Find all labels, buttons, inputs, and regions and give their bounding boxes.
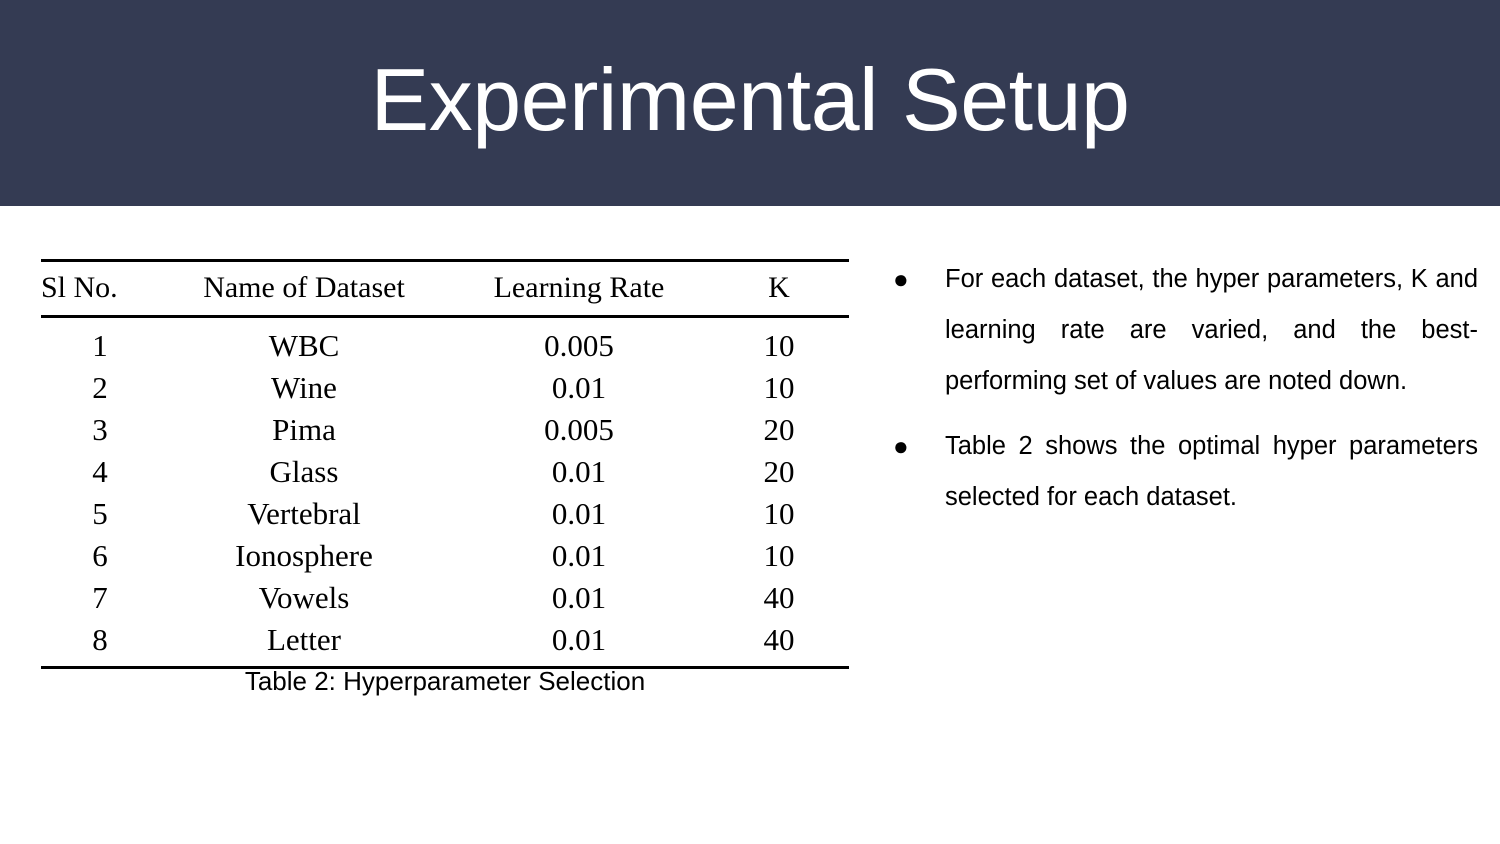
bullet-dot-icon: ●	[893, 254, 909, 305]
cell-k: 10	[709, 493, 849, 535]
slide-body: Sl No. Name of Dataset Learning Rate K 1…	[0, 206, 1500, 844]
bullet-text: For each dataset, the hyper parameters, …	[945, 254, 1478, 407]
table-row: 1 WBC 0.005 10	[41, 317, 849, 367]
table-header: Sl No. Name of Dataset Learning Rate K	[41, 261, 849, 317]
cell-learning-rate: 0.01	[449, 367, 709, 409]
table-row: 3 Pima 0.005 20	[41, 409, 849, 451]
cell-sl-no: 7	[41, 577, 159, 619]
cell-dataset-name: WBC	[159, 317, 449, 367]
hyperparameter-table: Sl No. Name of Dataset Learning Rate K 1…	[41, 259, 849, 669]
table-row: 2 Wine 0.01 10	[41, 367, 849, 409]
cell-learning-rate: 0.005	[449, 409, 709, 451]
table-body: 1 WBC 0.005 10 2 Wine 0.01 10 3 Pima 0.0…	[41, 317, 849, 668]
cell-k: 40	[709, 619, 849, 668]
cell-sl-no: 2	[41, 367, 159, 409]
cell-dataset-name: Letter	[159, 619, 449, 668]
table-row: 5 Vertebral 0.01 10	[41, 493, 849, 535]
cell-sl-no: 4	[41, 451, 159, 493]
cell-dataset-name: Vertebral	[159, 493, 449, 535]
cell-dataset-name: Ionosphere	[159, 535, 449, 577]
cell-k: 10	[709, 367, 849, 409]
table-caption: Table 2: Hyperparameter Selection	[41, 666, 849, 697]
cell-k: 20	[709, 409, 849, 451]
table-row: 6 Ionosphere 0.01 10	[41, 535, 849, 577]
cell-sl-no: 6	[41, 535, 159, 577]
bullet-list: ● For each dataset, the hyper parameters…	[888, 254, 1478, 537]
cell-k: 10	[709, 535, 849, 577]
table-row: 8 Letter 0.01 40	[41, 619, 849, 668]
cell-learning-rate: 0.01	[449, 619, 709, 668]
cell-k: 40	[709, 577, 849, 619]
slide-header-banner: Experimental Setup	[0, 0, 1500, 206]
table-header-row: Sl No. Name of Dataset Learning Rate K	[41, 261, 849, 317]
page-title: Experimental Setup	[371, 56, 1130, 150]
bullet-dot-icon: ●	[893, 421, 909, 472]
cell-sl-no: 5	[41, 493, 159, 535]
cell-k: 20	[709, 451, 849, 493]
cell-learning-rate: 0.01	[449, 451, 709, 493]
cell-dataset-name: Glass	[159, 451, 449, 493]
cell-sl-no: 8	[41, 619, 159, 668]
cell-dataset-name: Wine	[159, 367, 449, 409]
column-header-k: K	[709, 261, 849, 317]
cell-k: 10	[709, 317, 849, 367]
list-item: ● For each dataset, the hyper parameters…	[888, 254, 1478, 407]
cell-learning-rate: 0.01	[449, 535, 709, 577]
hyperparameter-table-container: Sl No. Name of Dataset Learning Rate K 1…	[41, 259, 849, 669]
cell-dataset-name: Pima	[159, 409, 449, 451]
column-header-learning-rate: Learning Rate	[449, 261, 709, 317]
table-row: 7 Vowels 0.01 40	[41, 577, 849, 619]
cell-sl-no: 1	[41, 317, 159, 367]
cell-learning-rate: 0.01	[449, 493, 709, 535]
cell-learning-rate: 0.005	[449, 317, 709, 367]
bullet-text: Table 2 shows the optimal hyper paramete…	[945, 421, 1478, 523]
table-row: 4 Glass 0.01 20	[41, 451, 849, 493]
cell-sl-no: 3	[41, 409, 159, 451]
cell-dataset-name: Vowels	[159, 577, 449, 619]
list-item: ● Table 2 shows the optimal hyper parame…	[888, 421, 1478, 523]
column-header-name-of-dataset: Name of Dataset	[159, 261, 449, 317]
column-header-sl-no: Sl No.	[41, 261, 159, 317]
cell-learning-rate: 0.01	[449, 577, 709, 619]
